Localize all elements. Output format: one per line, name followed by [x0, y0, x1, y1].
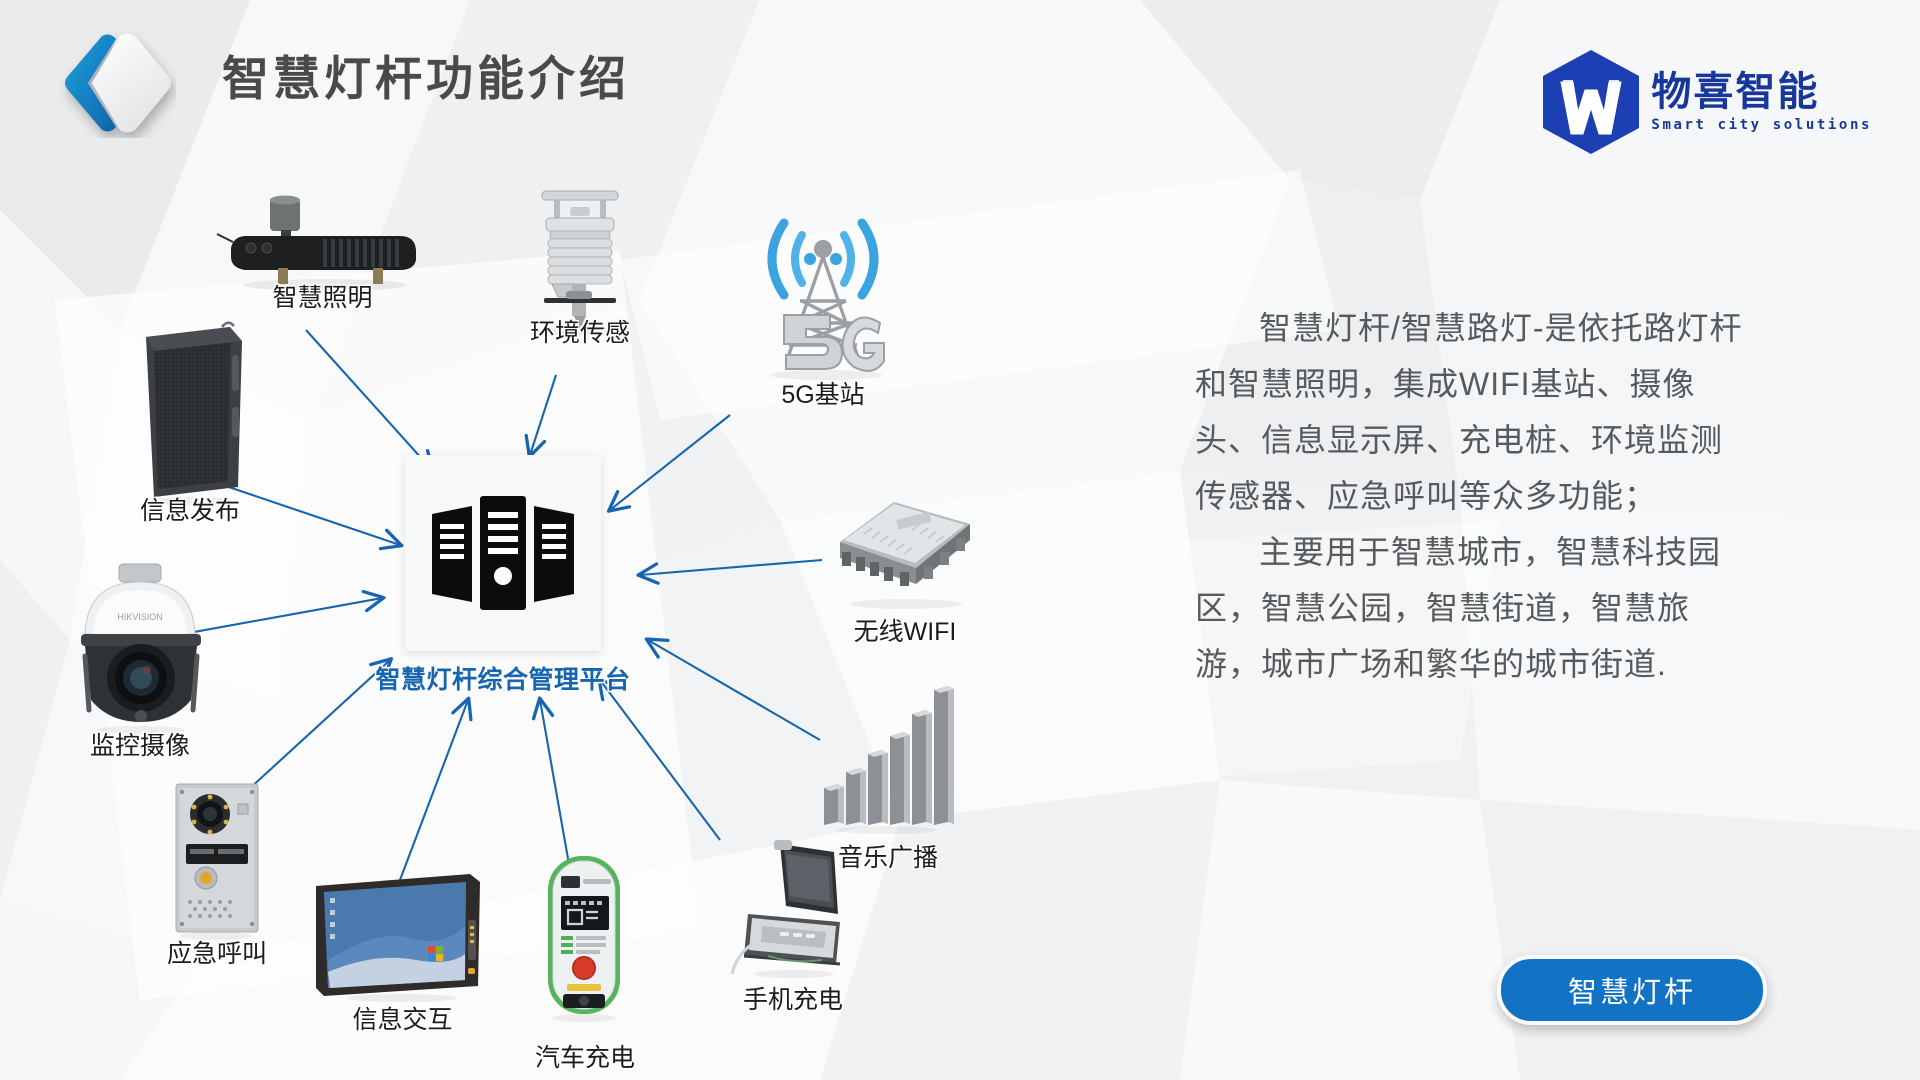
node-label: 智慧照明 [272, 278, 372, 314]
node-label: 环境传感 [530, 313, 630, 349]
brand-logo: 物喜智能 Smart city solutions [1539, 48, 1872, 156]
node-label: 信息交互 [352, 1000, 452, 1036]
ptz-camera-icon: HIKVISION [55, 560, 225, 735]
svg-text:HIKVISION: HIKVISION [117, 612, 163, 622]
node-label: 监控摄像 [90, 726, 190, 762]
wifi-ap-unit-icon [820, 490, 990, 610]
node-info-interaction[interactable]: 信息交互 [310, 868, 495, 1028]
hexagon-w-icon [1539, 48, 1643, 156]
description-paragraph-2: 主要用于智慧城市，智慧科技园区，智慧公园，智慧街道，智慧旅游，城市广场和繁华的城… [1195, 524, 1755, 692]
function-diagram: 智慧照明 [0, 0, 1250, 1080]
hub-card [405, 455, 601, 651]
node-label: 信息发布 [140, 491, 240, 527]
node-music-broadcast[interactable]: 音乐广播 [818, 680, 958, 860]
server-rack-icon [428, 488, 578, 618]
node-label: 应急呼叫 [167, 934, 267, 970]
node-label: 无线WIFI [854, 612, 957, 648]
node-env-sensor[interactable]: 环境传感 [500, 185, 660, 355]
node-label: 汽车充电 [535, 1038, 635, 1074]
node-label: 音乐广播 [838, 838, 938, 874]
column-speakers-icon [818, 680, 958, 835]
description-paragraph-1: 智慧灯杆/智慧路灯-是依托路灯杆和智慧照明，集成WIFI基站、摄像头、信息显示屏… [1195, 300, 1755, 524]
ev-charger-icon [520, 852, 650, 1022]
brand-tagline: Smart city solutions [1651, 117, 1872, 133]
node-emergency-call[interactable]: 应急呼叫 [142, 780, 292, 960]
hub-label: 智慧灯杆综合管理平台 [375, 660, 630, 696]
chevron-diamond-logo-icon [58, 28, 176, 138]
intercom-panel-icon [142, 780, 292, 940]
street-light-icon [215, 190, 430, 290]
node-label: 手机充电 [743, 980, 843, 1016]
node-ev-charging[interactable]: 汽车充电 [520, 852, 650, 1042]
smart-pole-button[interactable]: 智慧灯杆 [1497, 955, 1767, 1025]
5g-tower-icon [728, 205, 918, 385]
brand-name: 物喜智能 [1651, 71, 1872, 113]
node-surveillance[interactable]: HIKVISION 监控摄像 [55, 560, 225, 760]
node-wireless-wifi[interactable]: 无线WIFI [820, 490, 990, 640]
node-info-display[interactable]: 信息发布 [110, 315, 270, 525]
description-block: 智慧灯杆/智慧路灯-是依托路灯杆和智慧照明，集成WIFI基站、摄像头、信息显示屏… [1195, 300, 1755, 692]
slide-canvas: 智慧灯杆功能介绍 物喜智能 Smart city solutions [0, 0, 1920, 1080]
node-smart-lighting[interactable]: 智慧照明 [215, 190, 430, 320]
touch-screen-icon [310, 868, 495, 1003]
led-display-icon [110, 315, 270, 505]
central-hub[interactable]: 智慧灯杆综合管理平台 [405, 455, 601, 651]
node-5g-base-station[interactable]: 5G基站 [728, 205, 918, 405]
node-label: 5G基站 [781, 375, 864, 411]
page-title: 智慧灯杆功能介绍 [222, 40, 630, 109]
